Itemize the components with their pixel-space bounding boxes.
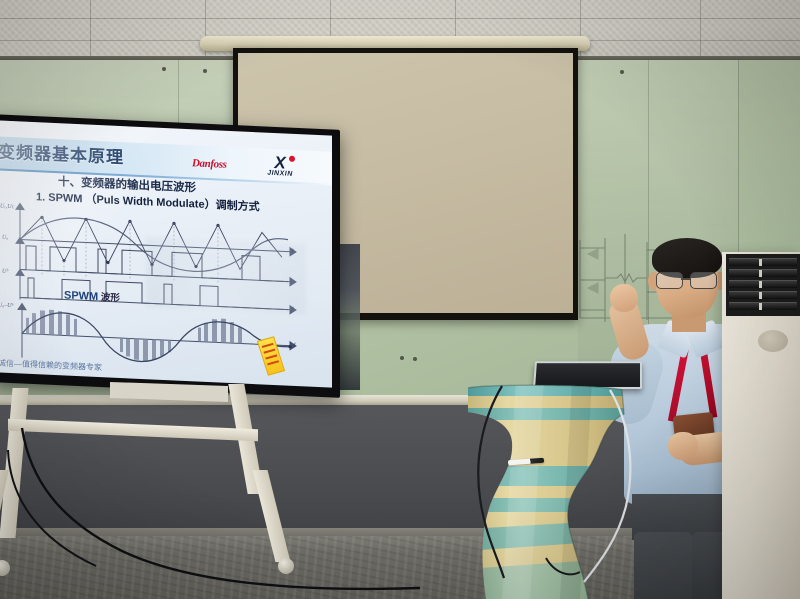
lectern-cables: [450, 372, 680, 599]
flat-panel-display-screen[interactable]: 变频器基本原理 Danfoss X JINXIN 十、变频器的输出电压波形 1.…: [0, 120, 332, 387]
eyeglasses-lens-right: [690, 272, 717, 289]
presenter-raised-hand: [610, 284, 638, 312]
presentation-slide: 变频器基本原理 Danfoss X JINXIN 十、变频器的输出电压波形 1.…: [0, 120, 332, 387]
screen-glare: [0, 120, 332, 387]
air-conditioner-vents: [726, 254, 800, 316]
presentation-room-photo: 变频器基本原理 Danfoss X JINXIN 十、变频器的输出电压波形 1.…: [0, 0, 800, 599]
air-conditioner-badge: [758, 330, 788, 352]
floor-cables: [0, 420, 520, 599]
eyeglasses-lens-left: [656, 272, 683, 289]
eyeglasses-bridge: [681, 278, 690, 280]
